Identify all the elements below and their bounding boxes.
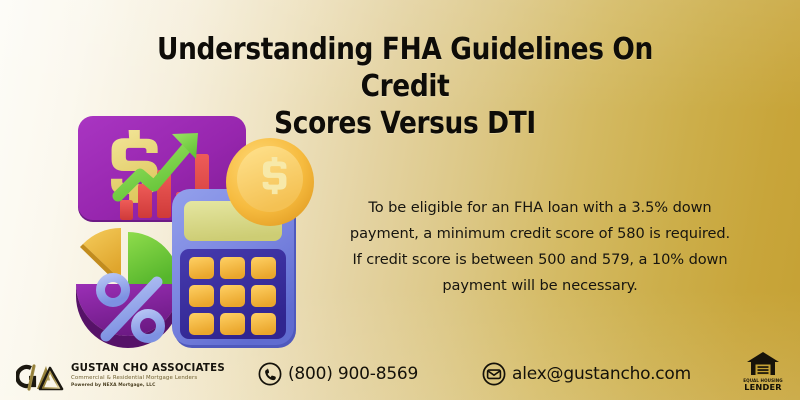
gold-coin <box>226 138 314 226</box>
contact-phone[interactable]: (800) 900-8569 <box>258 362 418 386</box>
phone-icon <box>258 362 282 386</box>
pie-chart <box>76 228 180 348</box>
brand-text: GUSTAN CHO ASSOCIATES Commercial & Resid… <box>71 363 225 389</box>
brand-tagline: Commercial & Residential Mortgage Lender… <box>71 375 225 383</box>
calculator-keys <box>189 257 276 335</box>
equal-housing-line-2: LENDER <box>744 383 782 392</box>
finance-calculator-illustration <box>62 112 352 350</box>
email-address: alex@gustancho.com <box>512 364 691 384</box>
body-paragraph: To be eligible for an FHA loan with a 3.… <box>348 195 732 299</box>
page-title-line-1: Understanding FHA Guidelines On Credit <box>132 32 678 106</box>
phone-number: (800) 900-8569 <box>288 364 418 384</box>
gca-monogram-icon <box>16 358 64 394</box>
page-title: Understanding FHA Guidelines On Credit S… <box>132 32 678 143</box>
brand-logo[interactable]: GUSTAN CHO ASSOCIATES Commercial & Resid… <box>16 358 225 394</box>
envelope-icon <box>482 362 506 386</box>
footer: GUSTAN CHO ASSOCIATES Commercial & Resid… <box>0 342 800 400</box>
brand-subline: Powered by NEXA Mortgage, LLC <box>71 383 225 389</box>
contact-email[interactable]: alex@gustancho.com <box>482 362 691 386</box>
infographic-banner: Understanding FHA Guidelines On Credit S… <box>0 0 800 400</box>
house-icon <box>746 351 780 377</box>
page-title-line-2: Scores Versus DTI <box>132 106 678 143</box>
brand-name: GUSTAN CHO ASSOCIATES <box>71 363 225 374</box>
equal-housing-lender-badge: EQUAL HOUSING LENDER <box>740 350 786 392</box>
